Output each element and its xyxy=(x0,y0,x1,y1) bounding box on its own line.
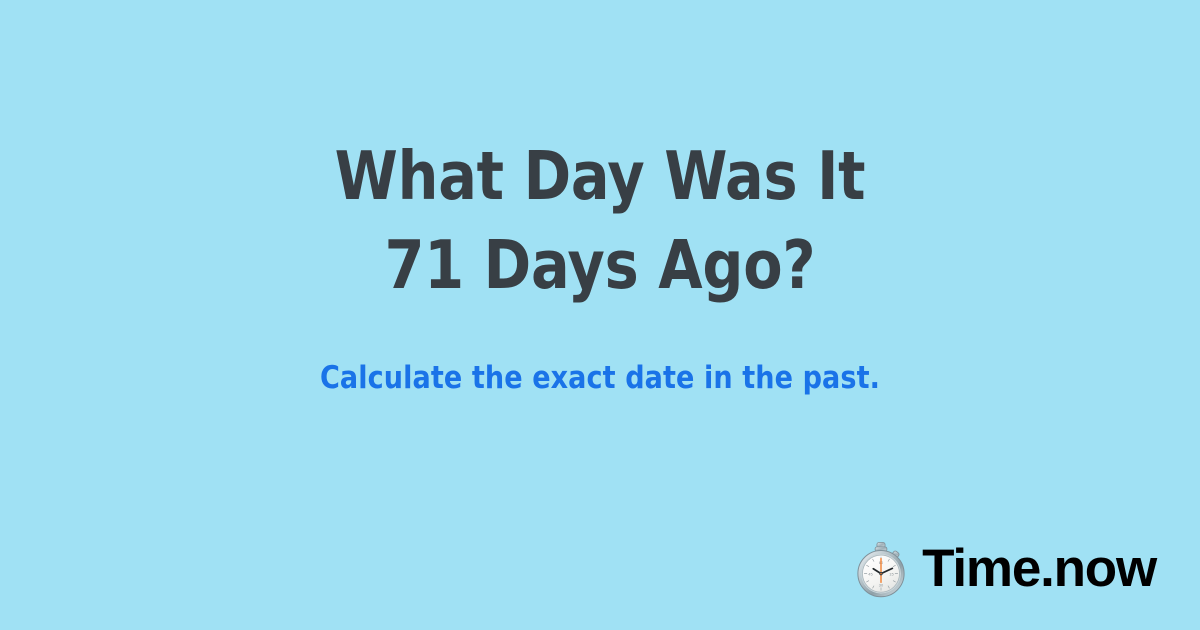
svg-text:30: 30 xyxy=(879,583,884,588)
brand-name: Time.now xyxy=(922,542,1156,599)
page-title-line-2: 71 Days Ago? xyxy=(30,221,1170,310)
hero-section: What Day Was It 71 Days Ago? Calculate t… xyxy=(0,0,1200,395)
brand-logo[interactable]: 60 15 30 45 Time.now xyxy=(852,534,1156,606)
stopwatch-icon: 60 15 30 45 xyxy=(852,541,910,599)
page-subtitle: Calculate the exact date in the past. xyxy=(18,310,1182,395)
page-title-line-1: What Day Was It xyxy=(30,132,1170,221)
share-card: What Day Was It 71 Days Ago? Calculate t… xyxy=(0,0,1200,630)
page-title: What Day Was It 71 Days Ago? xyxy=(30,132,1170,310)
svg-text:15: 15 xyxy=(889,571,894,576)
